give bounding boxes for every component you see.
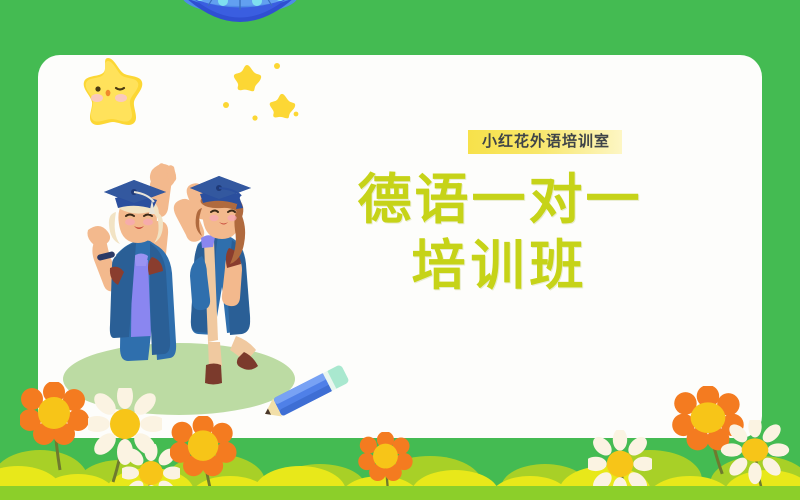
ground-ellipse [63, 343, 295, 415]
title-block: 小红花外语培训室 德语一对一 培训班 [290, 130, 710, 300]
headline-line-1: 德语一对一 [290, 168, 710, 234]
ufo-icon [178, 0, 302, 44]
bottom-accent-strip [0, 486, 800, 500]
page-title: 德语一对一 培训班 [290, 168, 710, 300]
headline-line-2: 培训班 [290, 234, 710, 300]
poster-canvas: 小红花外语培训室 德语一对一 培训班 [0, 0, 800, 500]
subtitle-badge: 小红花外语培训室 [468, 130, 622, 154]
